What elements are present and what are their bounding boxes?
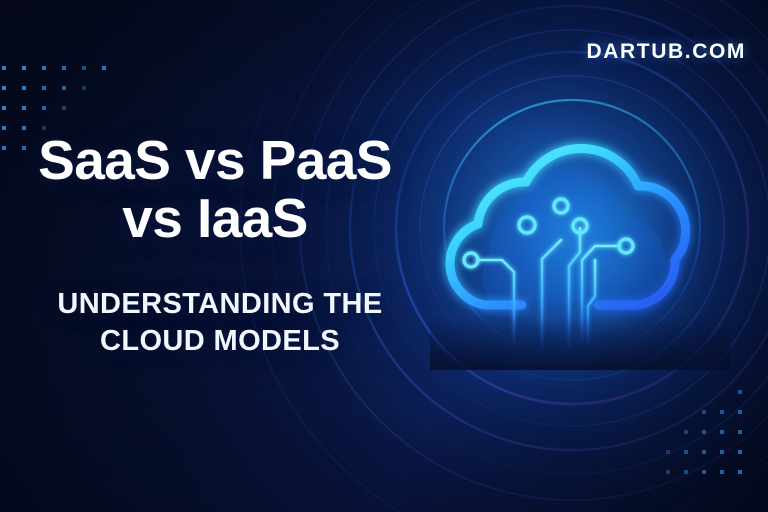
cloud-circuit-illustration: [430, 120, 730, 370]
dot-grid-bottom-right: [658, 388, 768, 498]
brand-wordmark: DARTUB.COM: [587, 40, 746, 64]
page-title: SaaS vs PaaS vs IaaS: [0, 131, 430, 248]
page-subtitle: UNDERSTANDING THE CLOUD MODELS: [0, 286, 440, 360]
poster-canvas: DARTUB.COM SaaS vs PaaS vs IaaS UNDERSTA…: [0, 0, 768, 512]
cloud-circuit-svg: [430, 120, 730, 370]
